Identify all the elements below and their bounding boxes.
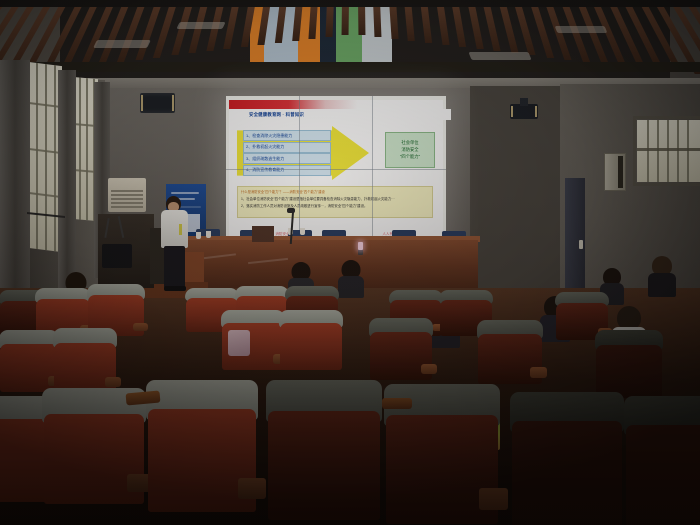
list-item: 3、组织疏散逃生能力: [243, 153, 331, 164]
window-bars: [28, 62, 62, 252]
presenter: [160, 196, 190, 292]
list-item: 4、消防宣传教育能力: [243, 165, 331, 176]
wall-speaker-left: [140, 93, 175, 113]
auditorium-photo: 安全健康教育网 · 科普知识 1、检查消除火灾隐患能力 2、扑救初起火灾能力 3…: [0, 0, 700, 525]
electrical-panel-box: [604, 153, 626, 191]
presenter-lanyard-badge: [179, 224, 182, 235]
audience-member: [648, 256, 676, 296]
wall-speaker-right: [510, 104, 538, 119]
ceiling-lamp: [93, 40, 151, 48]
cloth-on-seat: [228, 330, 250, 356]
projection-video-wall: 安全健康教育网 · 科普知识 1、检查消除火灾隐患能力 2、扑救初起火灾能力 3…: [226, 96, 446, 242]
ceiling-frame-band: [0, 62, 700, 72]
result-green-box: 社会单位 消防安全 "四个能力": [385, 132, 435, 168]
seat[interactable]: [512, 392, 622, 525]
seat[interactable]: [370, 318, 432, 380]
head-table: [178, 240, 478, 288]
slide-note-box: 什么是消防安全"四个能力"？——消防安全"四个能力"建设 1、社会单位消防安全"…: [237, 186, 433, 218]
ceiling-lamp: [555, 26, 608, 33]
presenter-shirt: [161, 210, 188, 248]
ceiling-slat: [451, 0, 466, 47]
note-line: 1、社会单位消防安全"四个能力"建设是指社会单位要具备检查消除火灾隐患能力、扑救…: [241, 196, 429, 201]
gooseneck-mic: [118, 216, 125, 238]
seat[interactable]: [44, 388, 144, 504]
presenter-trousers: [164, 246, 185, 288]
slide-header-text: 安全健康教育网 · 科普知识: [249, 112, 304, 118]
result-line: 社会单位: [401, 140, 418, 146]
videowall-seam: [226, 169, 446, 170]
list-item: 2、扑救初起火灾能力: [243, 142, 331, 153]
gooseneck-mic: [104, 218, 109, 238]
ceiling-slat: [467, 0, 484, 49]
ceiling: [0, 0, 700, 92]
seat[interactable]: [148, 380, 256, 512]
slide-red-band: [229, 100, 443, 109]
paper-cup: [196, 232, 201, 239]
curtain-left-middle: [58, 70, 76, 294]
right-window-frame: [633, 116, 700, 186]
seat[interactable]: [626, 396, 700, 525]
podium: [98, 214, 154, 288]
ceiling-top-edge: [0, 0, 700, 7]
monitor: [102, 244, 132, 268]
lectern-box: [252, 226, 274, 242]
result-line: 消防安全: [401, 147, 418, 153]
left-window-near: [28, 62, 62, 252]
seat[interactable]: [596, 330, 662, 398]
result-line: "四个能力": [400, 154, 420, 160]
right-door: [565, 178, 585, 303]
slide-header: 安全健康教育网 · 科普知识: [235, 109, 451, 120]
seat[interactable]: [0, 330, 58, 392]
ceiling-slat: [223, 0, 240, 49]
paper-cup: [206, 231, 211, 238]
audience-member: [338, 260, 364, 296]
speaker-right-mount: [520, 98, 528, 106]
phone-screen: [358, 242, 363, 250]
door-handle[interactable]: [579, 240, 583, 249]
seat[interactable]: [268, 380, 380, 520]
note-title: 什么是消防安全"四个能力"？——消防安全"四个能力"建设: [241, 189, 429, 194]
seat[interactable]: [54, 328, 116, 394]
seat[interactable]: [478, 320, 542, 384]
armrest: [382, 398, 412, 409]
ceiling-lamp: [468, 52, 531, 60]
presenter-shoes: [164, 286, 186, 291]
ceiling-slat: [241, 0, 256, 47]
list-item: 1、检查消除火灾隐患能力: [243, 130, 331, 141]
seat[interactable]: [280, 310, 342, 370]
note-line: 2、落实消防工作人员对消防设施及人员疏散进行宣传⋯，消防安全"四个能力"建设。: [241, 203, 429, 208]
ceiling-slat: [482, 0, 501, 51]
paper-cup: [300, 228, 305, 235]
air-conditioner: [108, 178, 146, 212]
ceiling-lamp: [176, 22, 225, 29]
